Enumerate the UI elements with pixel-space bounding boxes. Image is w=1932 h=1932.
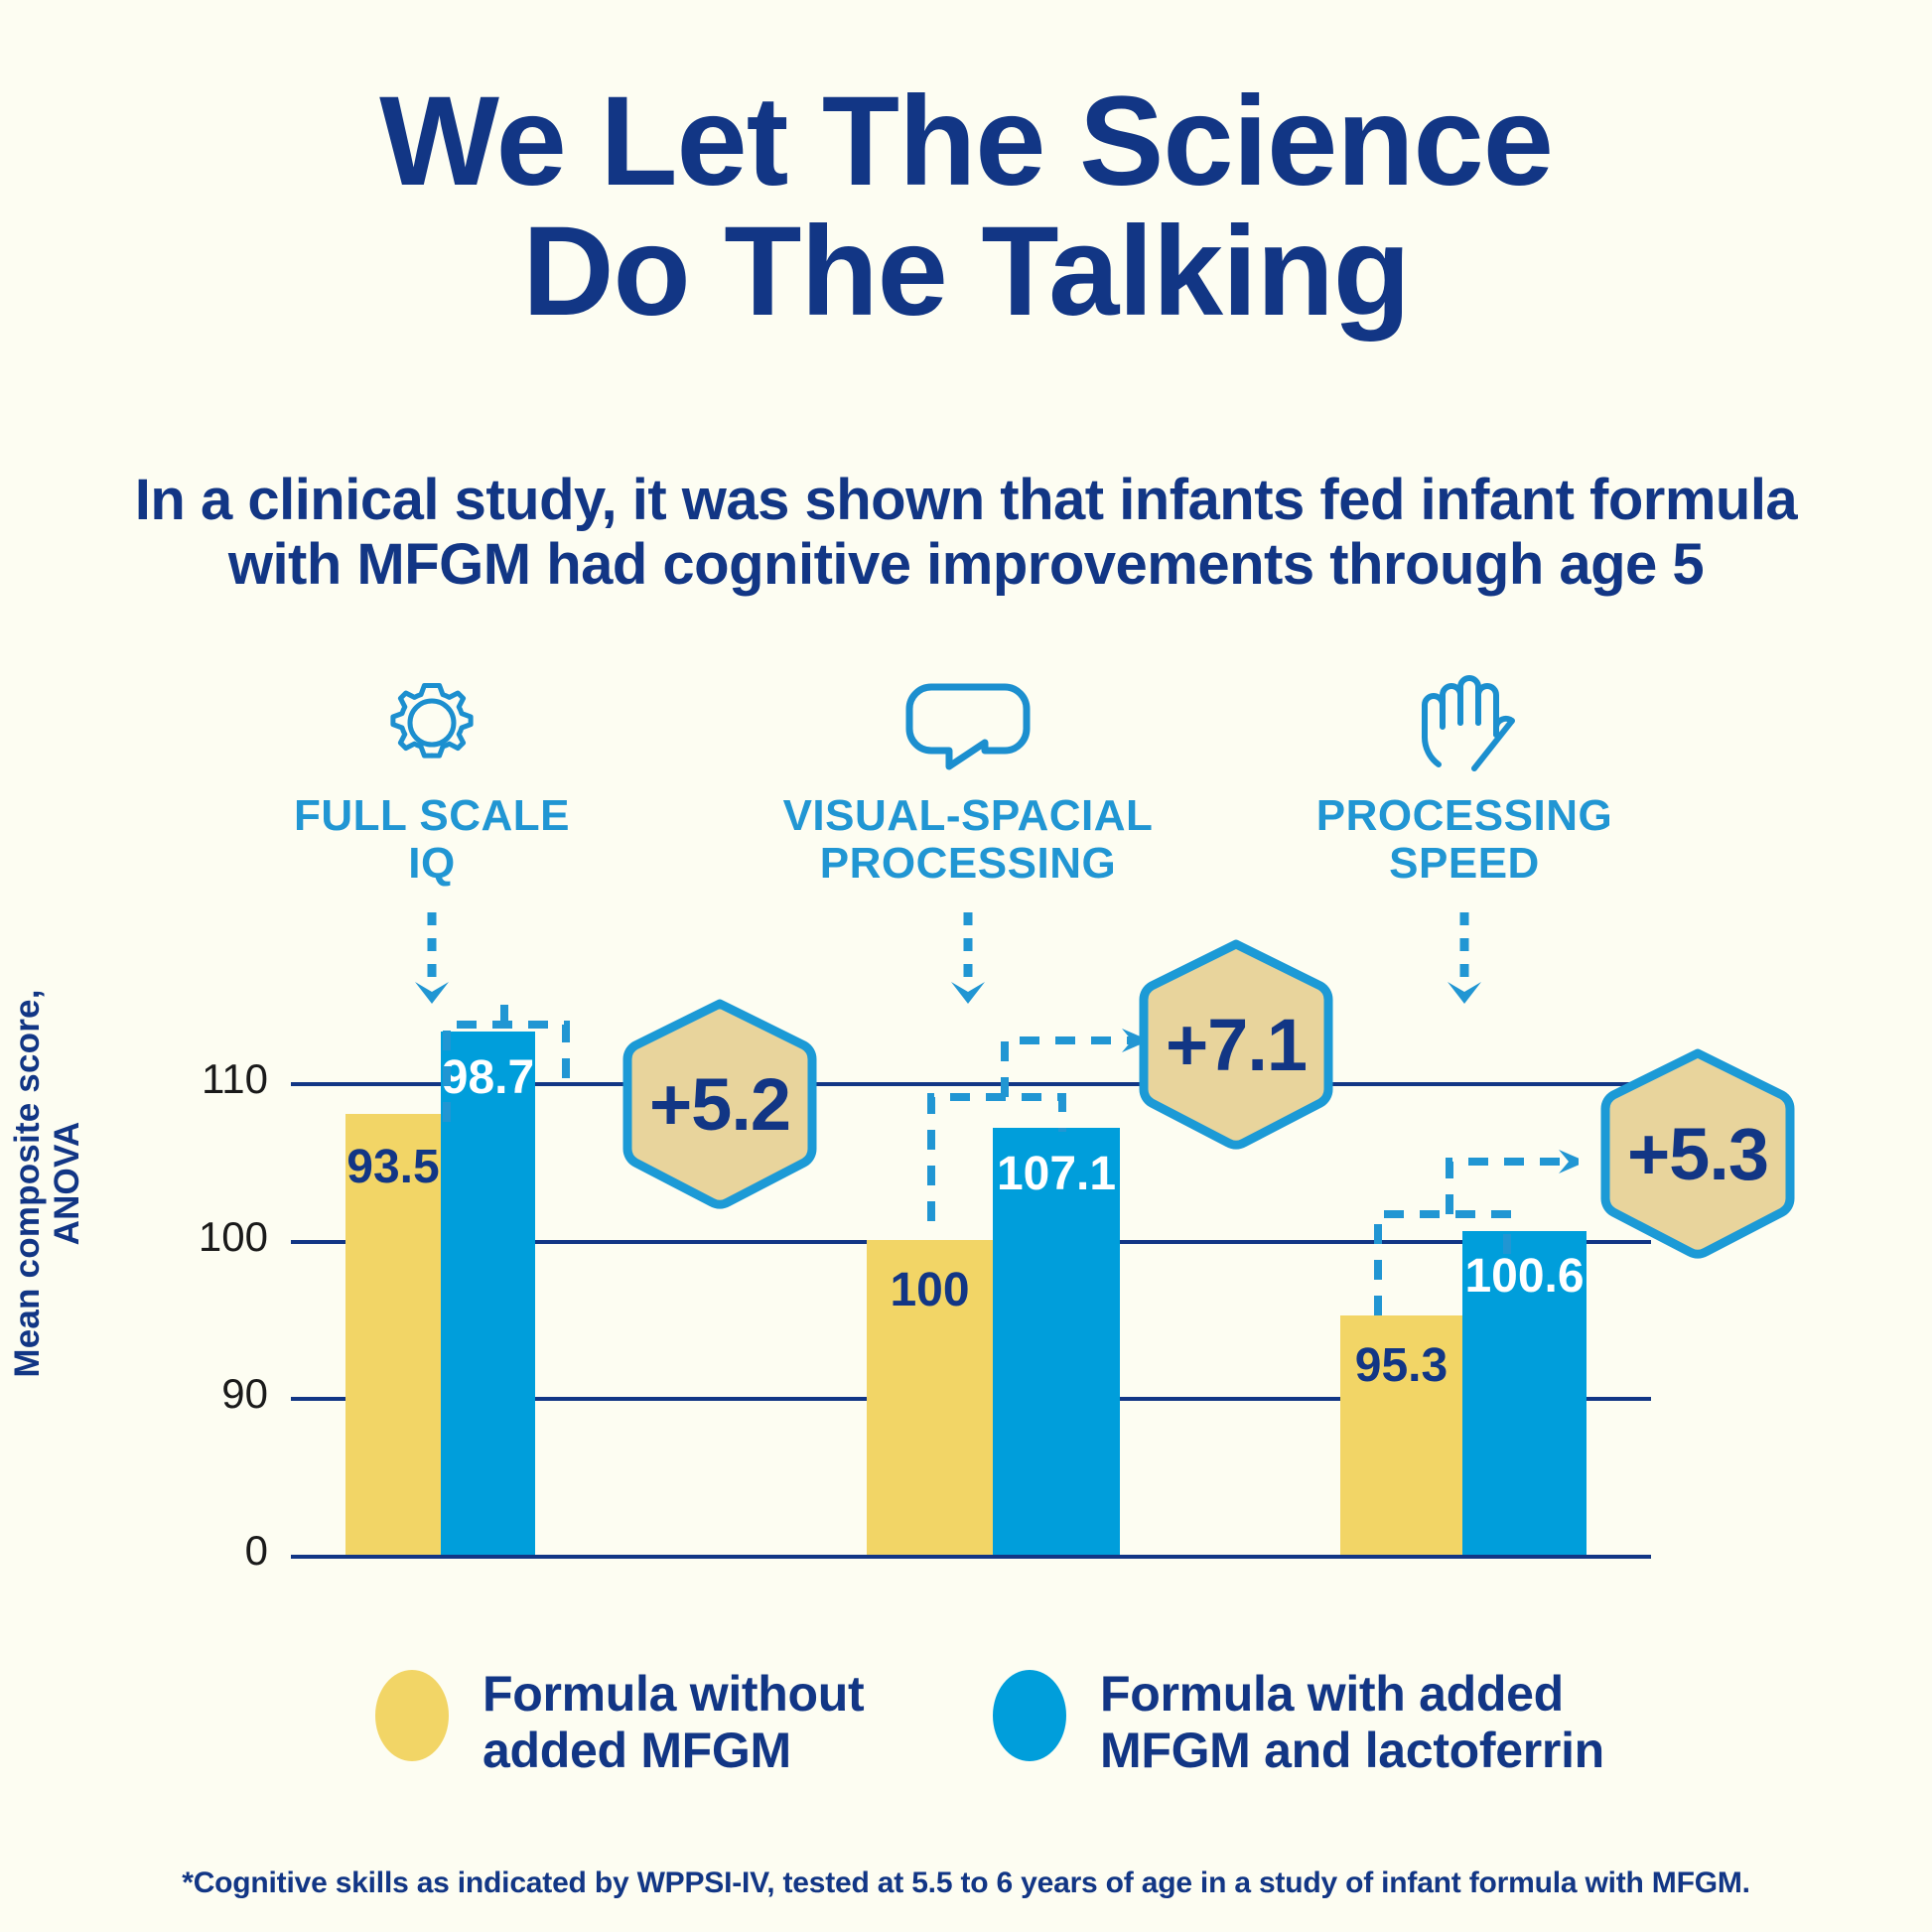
down-arrow-icon-2	[755, 908, 1181, 1024]
badge-hexagon-processing-speed: +5.3	[1593, 1047, 1802, 1260]
gear-icon	[278, 667, 586, 774]
subtitle-line-1: In a clinical study, it was shown that i…	[135, 468, 1797, 532]
category-label-full-scale-iq: FULL SCALE IQ	[278, 792, 586, 887]
chart-legend: Formula without added MFGM Formula with …	[0, 1656, 1932, 1815]
category-label-line-2: IQ	[278, 840, 586, 888]
badge-hexagon-full-scale-iq: +5.2	[616, 998, 824, 1210]
legend-swatch-blue	[993, 1670, 1066, 1761]
footnote: *Cognitive skills as indicated by WPPSI-…	[0, 1866, 1932, 1900]
badge-value-3: +5.3	[1593, 1047, 1802, 1260]
bar-value-blue-3: 100.6	[1462, 1249, 1587, 1304]
speech-bubble-icon	[755, 667, 1181, 774]
title-line-1: We Let The Science	[379, 70, 1553, 212]
bar-yellow-visual-spacial	[867, 1240, 993, 1555]
category-header-visual-spacial-processing: VISUAL-SPACIAL PROCESSING	[755, 667, 1181, 1024]
legend-label-yellow: Formula without added MFGM	[483, 1666, 864, 1779]
infographic-root: We Let The Science Do The Talking In a c…	[0, 0, 1932, 1932]
y-tick-90: 90	[149, 1370, 268, 1418]
bar-value-blue-1: 98.7	[441, 1050, 535, 1105]
legend-swatch-yellow	[375, 1670, 449, 1761]
bar-yellow-processing-speed	[1340, 1315, 1462, 1555]
legend-label-line-2: added MFGM	[483, 1723, 864, 1779]
hand-icon	[1301, 667, 1628, 774]
category-label-line-1: FULL SCALE	[294, 791, 570, 840]
bar-blue-visual-spacial	[993, 1128, 1120, 1555]
subtitle-line-2: with MFGM had cognitive improvements thr…	[30, 533, 1902, 598]
gridline-100	[291, 1240, 1651, 1244]
category-label-line-1: VISUAL-SPACIAL	[783, 791, 1154, 840]
legend-label-line-1: Formula without	[483, 1666, 864, 1722]
category-label-visual-spacial-processing: VISUAL-SPACIAL PROCESSING	[755, 792, 1181, 887]
title-line-2: Do The Talking	[0, 207, 1932, 338]
category-label-processing-speed: PROCESSING SPEED	[1301, 792, 1628, 887]
down-arrow-icon-1	[278, 908, 586, 1024]
down-arrow-icon-3	[1301, 908, 1628, 1024]
bar-yellow-full-scale-iq	[345, 1114, 441, 1555]
gridline-90	[291, 1397, 1651, 1401]
bar-value-yellow-1: 93.5	[345, 1140, 441, 1194]
bar-blue-full-scale-iq	[441, 1032, 535, 1555]
y-tick-100: 100	[149, 1213, 268, 1261]
badge-value-1: +5.2	[616, 998, 824, 1210]
category-header-row: FULL SCALE IQ VISUAL-SPACIAL PROCESSING	[0, 667, 1932, 1015]
category-header-processing-speed: PROCESSING SPEED	[1301, 667, 1628, 1024]
bar-blue-processing-speed	[1462, 1231, 1587, 1555]
category-header-full-scale-iq: FULL SCALE IQ	[278, 667, 586, 1024]
page-title: We Let The Science Do The Talking	[0, 77, 1932, 337]
x-axis-line	[291, 1555, 1651, 1559]
legend-label-blue: Formula with added MFGM and lactoferrin	[1100, 1666, 1604, 1779]
legend-item-formula-with-mfgm: Formula with added MFGM and lactoferrin	[993, 1666, 1604, 1779]
legend-label-line-1: Formula with added	[1100, 1666, 1564, 1722]
y-tick-0: 0	[149, 1527, 268, 1575]
category-label-line-2: PROCESSING	[755, 840, 1181, 888]
page-subtitle: In a clinical study, it was shown that i…	[30, 469, 1902, 598]
connector-lines-3	[1042, 1042, 1579, 1370]
category-label-line-2: SPEED	[1301, 840, 1628, 888]
y-tick-110: 110	[149, 1055, 268, 1103]
gridline-110	[291, 1082, 1651, 1086]
legend-item-formula-without-mfgm: Formula without added MFGM	[375, 1666, 864, 1779]
bar-value-blue-2: 107.1	[993, 1147, 1120, 1201]
legend-label-line-2: MFGM and lactoferrin	[1100, 1723, 1604, 1779]
bar-value-yellow-3: 95.3	[1340, 1338, 1462, 1393]
bar-value-yellow-2: 100	[867, 1263, 993, 1317]
category-label-line-1: PROCESSING	[1316, 791, 1612, 840]
